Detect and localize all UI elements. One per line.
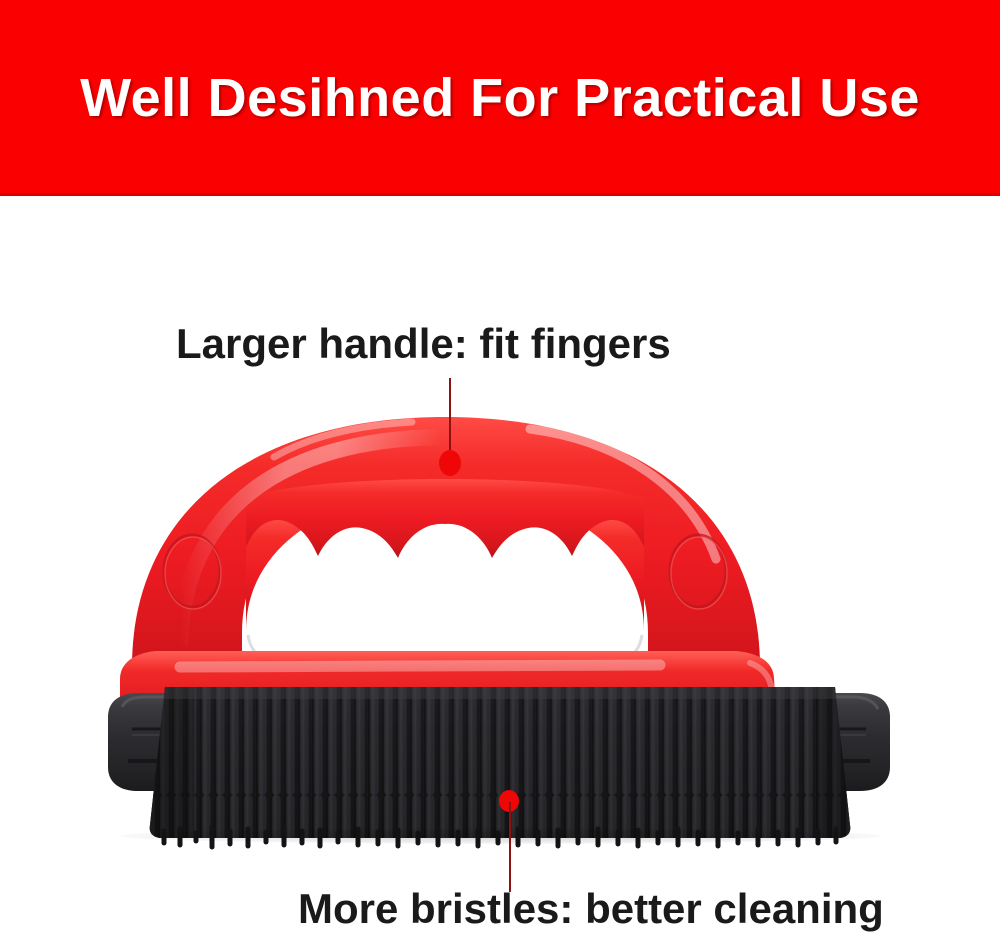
brush-bristles (140, 683, 870, 847)
callout-leader-bristles (509, 802, 511, 892)
brush-illustration (60, 395, 940, 860)
banner-title: Well Desihned For Practical Use (0, 0, 1000, 196)
product-image (60, 395, 940, 860)
callout-marker-handle (439, 450, 461, 476)
callout-label-handle: Larger handle: fit fingers (176, 320, 671, 368)
infographic-canvas: Well Desihned For Practical Use (0, 0, 1000, 938)
header-banner: Well Desihned For Practical Use (0, 0, 1000, 196)
callout-label-bristles: More bristles: better cleaning (298, 885, 884, 933)
